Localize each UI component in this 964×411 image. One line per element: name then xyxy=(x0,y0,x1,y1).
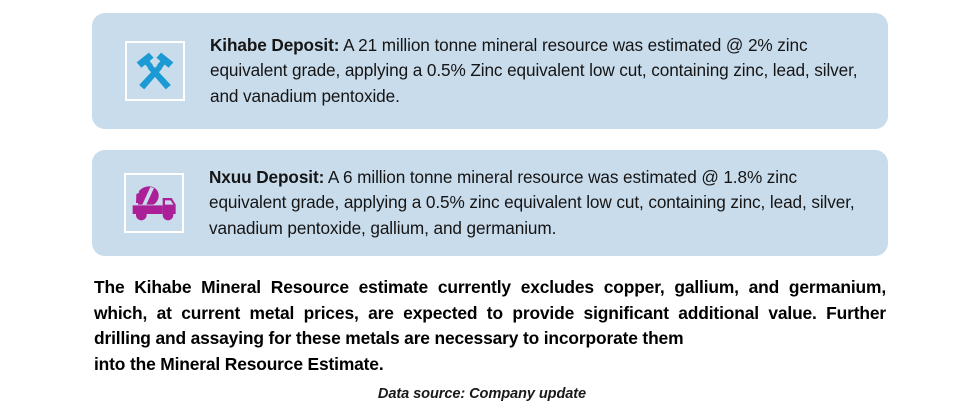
deposit-name-kihabe: Kihabe Deposit: xyxy=(210,35,339,55)
deposit-card-kihabe: Kihabe Deposit: A 21 million tonne miner… xyxy=(92,13,888,129)
exclusions-note-tail: into the Mineral Resource Estimate. xyxy=(94,352,886,378)
infographic-page: Kihabe Deposit: A 21 million tonne miner… xyxy=(0,0,964,411)
deposit-card-text-nxuu: Nxuu Deposit: A 6 million tonne mineral … xyxy=(209,165,888,242)
deposit-card-text-kihabe: Kihabe Deposit: A 21 million tonne miner… xyxy=(210,33,888,110)
data-source-caption: Data source: Company update xyxy=(0,386,964,402)
crossed-hammers-icon xyxy=(132,48,178,94)
crossed-hammers-icon-frame xyxy=(125,41,185,101)
cement-mixer-truck-icon-frame xyxy=(124,173,184,233)
cement-mixer-truck-icon xyxy=(130,182,178,224)
deposit-card-nxuu: Nxuu Deposit: A 6 million tonne mineral … xyxy=(92,150,888,256)
deposit-name-nxuu: Nxuu Deposit: xyxy=(209,167,324,187)
exclusions-note: The Kihabe Mineral Resource estimate cur… xyxy=(94,275,886,377)
exclusions-note-body: The Kihabe Mineral Resource estimate cur… xyxy=(94,275,886,352)
